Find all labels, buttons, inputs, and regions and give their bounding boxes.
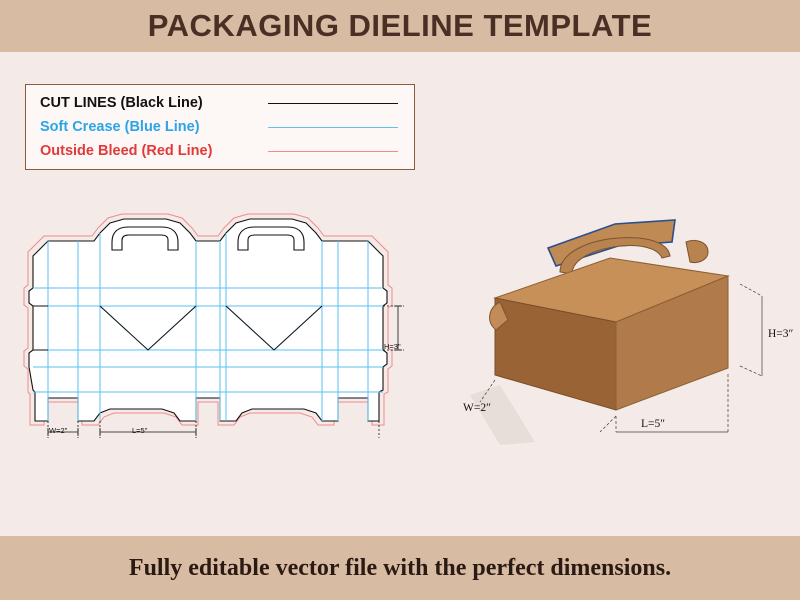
box-shadow [470,385,535,445]
legend-item-outside-bleed: Outside Bleed (Red Line) [40,139,404,163]
legend-swatch-blue-line [268,127,398,128]
dieline-drawing [0,180,420,536]
footer-subtitle: Fully editable vector file with the perf… [129,555,671,582]
dieline-dim-width: W=2" [49,426,67,435]
box-tab-right [686,240,708,262]
poster-canvas: PACKAGING DIELINE TEMPLATE CUT LINES (Bl… [0,0,800,600]
legend-item-soft-crease: Soft Crease (Blue Line) [40,115,404,139]
artwork-area: H=3" W=2" L=5" [0,180,800,536]
mockup-dim-length: L=5″ [641,418,665,430]
footer-banner: Fully editable vector file with the perf… [0,536,800,600]
header-banner: PACKAGING DIELINE TEMPLATE [0,0,800,52]
mockup-dim-width: W=2″ [463,402,491,414]
box-mockup-3d [440,180,780,536]
legend-item-label: Soft Crease (Blue Line) [40,119,268,135]
legend-swatch-red-line [268,151,398,152]
legend-swatch-black-line [268,103,398,104]
cut-outline [29,219,387,421]
page-title: PACKAGING DIELINE TEMPLATE [148,8,652,44]
mockup-dim-height: H=3″ [768,328,793,340]
legend-item-cut-lines: CUT LINES (Black Line) [40,91,404,115]
legend-box: CUT LINES (Black Line) Soft Crease (Blue… [25,84,415,170]
legend-item-label: Outside Bleed (Red Line) [40,143,268,159]
dieline-dim-length: L=5" [132,426,147,435]
dieline-dim-height: H=3" [384,342,401,351]
legend-item-label: CUT LINES (Black Line) [40,95,268,111]
